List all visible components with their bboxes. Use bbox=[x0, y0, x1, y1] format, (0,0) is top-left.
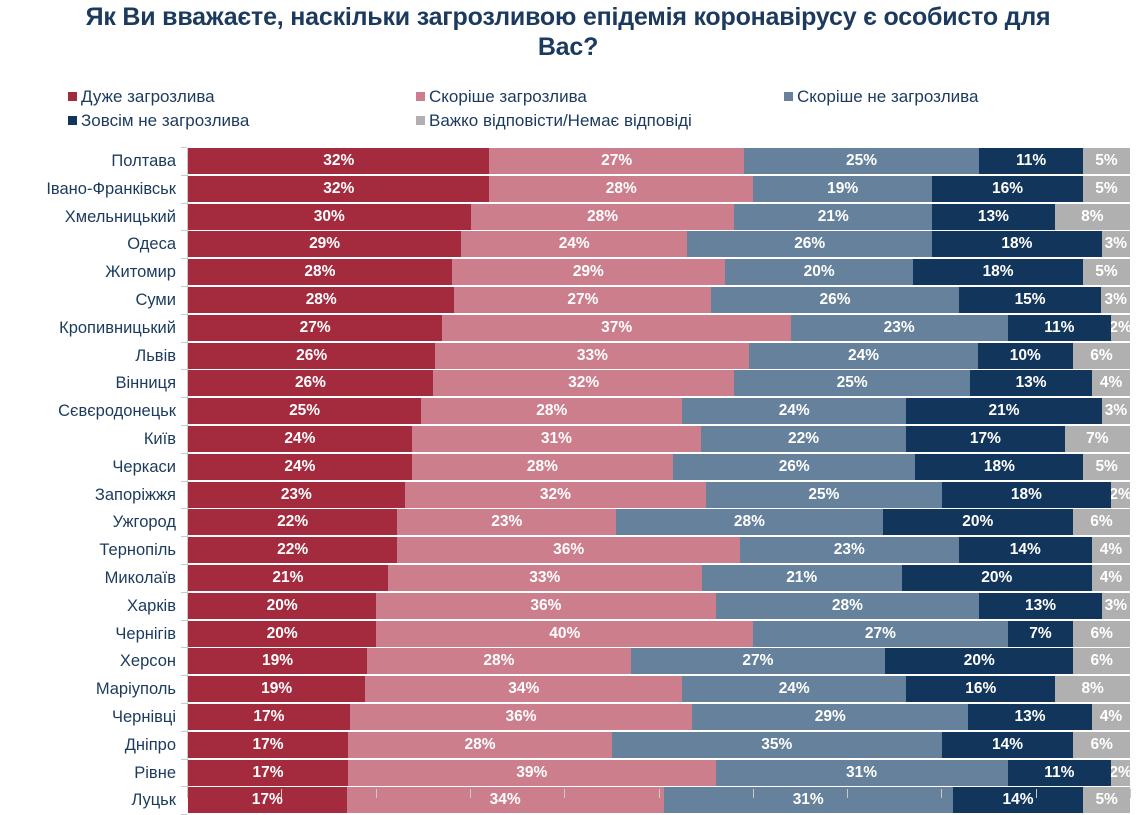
bar-segment[interactable]: 28% bbox=[348, 732, 612, 758]
bar-segment-value: 5% bbox=[1095, 454, 1117, 480]
bar-segment[interactable]: 20% bbox=[902, 565, 1092, 591]
bar-segment[interactable]: 33% bbox=[388, 565, 702, 591]
row-category-label: Полтава bbox=[0, 148, 176, 174]
stacked-bar: 26%33%24%10%6% bbox=[188, 343, 1130, 369]
bar-segment-value: 6% bbox=[1090, 509, 1112, 535]
bar-segment-value: 22% bbox=[788, 426, 819, 452]
bar-segment[interactable]: 5% bbox=[1083, 259, 1130, 285]
stacked-bar: 25%28%24%21%3% bbox=[188, 398, 1130, 424]
bar-segment[interactable]: 6% bbox=[1073, 621, 1130, 647]
bar-segment-value: 25% bbox=[846, 148, 877, 174]
bar-segment-value: 31% bbox=[541, 426, 572, 452]
bar-segment[interactable]: 19% bbox=[188, 648, 367, 674]
bar-segment-value: 30% bbox=[314, 204, 345, 230]
bar-segment-value: 33% bbox=[529, 565, 560, 591]
bar-segment-value: 21% bbox=[786, 565, 817, 591]
y-axis-tick bbox=[181, 342, 187, 343]
bar-segment-value: 28% bbox=[304, 259, 335, 285]
bar-segment-value: 28% bbox=[832, 593, 863, 619]
bar-segment[interactable]: 7% bbox=[1065, 426, 1130, 452]
row-category-label: Черкаси bbox=[0, 454, 176, 480]
bar-segment[interactable]: 39% bbox=[348, 760, 715, 786]
bar-segment[interactable]: 25% bbox=[706, 482, 942, 508]
legend-item-very-threatening[interactable]: Дуже загрозлива bbox=[68, 84, 215, 108]
bar-segment-value: 6% bbox=[1090, 648, 1112, 674]
bar-segment[interactable]: 33% bbox=[435, 343, 749, 369]
bar-segment[interactable]: 11% bbox=[979, 148, 1083, 174]
bar-segment-value: 18% bbox=[1001, 231, 1032, 257]
bar-segment-value: 6% bbox=[1091, 621, 1113, 647]
row-category-label: Житомир bbox=[0, 259, 176, 285]
row-category-label: Миколаїв bbox=[0, 565, 176, 591]
stacked-bar: 19%28%27%20%6% bbox=[188, 648, 1130, 674]
legend-item-not-at-all-threatening[interactable]: Зовсім не загрозлива bbox=[68, 108, 249, 132]
bar-segment[interactable]: 30% bbox=[188, 204, 471, 230]
bar-segment[interactable]: 17% bbox=[906, 426, 1065, 452]
chart-row: Чернігів20%40%27%7%6% bbox=[0, 621, 1136, 647]
bar-segment-value: 24% bbox=[284, 426, 315, 452]
x-axis-tick bbox=[470, 789, 471, 798]
bar-segment-value: 27% bbox=[300, 315, 331, 341]
bar-segment[interactable]: 24% bbox=[188, 426, 412, 452]
legend-swatch-icon bbox=[68, 116, 77, 125]
bar-segment[interactable]: 35% bbox=[612, 732, 942, 758]
legend-swatch-icon bbox=[416, 116, 425, 125]
bar-segment-value: 32% bbox=[323, 148, 354, 174]
y-axis-tick bbox=[181, 147, 187, 148]
bar-segment-value: 34% bbox=[508, 676, 539, 702]
bar-segment[interactable]: 36% bbox=[376, 593, 715, 619]
bar-segment[interactable]: 28% bbox=[188, 287, 454, 313]
bar-segment[interactable]: 23% bbox=[791, 315, 1008, 341]
y-axis-tick bbox=[181, 508, 187, 509]
bar-segment[interactable]: 36% bbox=[350, 704, 693, 730]
bar-segment[interactable]: 5% bbox=[1083, 176, 1130, 202]
stacked-bar: 28%27%26%15%3% bbox=[188, 287, 1130, 313]
bar-segment-value: 11% bbox=[1044, 760, 1074, 786]
bar-segment[interactable]: 4% bbox=[1092, 565, 1130, 591]
y-axis-tick bbox=[181, 536, 187, 537]
legend-item-rather-not-threatening[interactable]: Скоріше не загрозлива bbox=[784, 84, 978, 108]
bar-segment-value: 4% bbox=[1100, 537, 1122, 563]
bar-segment[interactable]: 21% bbox=[734, 204, 932, 230]
legend-label: Важко відповісти/Немає відповіді bbox=[429, 111, 692, 130]
bar-segment[interactable]: 3% bbox=[1102, 593, 1130, 619]
bar-segment[interactable]: 3% bbox=[1102, 231, 1130, 257]
bar-segment[interactable]: 23% bbox=[740, 537, 959, 563]
bar-segment-value: 36% bbox=[530, 593, 561, 619]
bar-segment[interactable]: 2% bbox=[1111, 315, 1130, 341]
bar-segment[interactable]: 34% bbox=[365, 676, 682, 702]
bar-segment[interactable]: 20% bbox=[188, 621, 376, 647]
bar-segment-value: 8% bbox=[1081, 204, 1103, 230]
stacked-bar: 32%28%19%16%5% bbox=[188, 176, 1130, 202]
bar-segment[interactable]: 8% bbox=[1055, 676, 1130, 702]
bar-segment[interactable]: 28% bbox=[421, 398, 682, 424]
bar-segment[interactable]: 11% bbox=[1008, 760, 1112, 786]
bar-segment[interactable]: 24% bbox=[461, 231, 687, 257]
bar-segment[interactable]: 24% bbox=[749, 343, 977, 369]
y-axis-tick bbox=[181, 703, 187, 704]
bar-segment-value: 26% bbox=[794, 231, 825, 257]
y-axis-tick bbox=[181, 175, 187, 176]
bar-segment[interactable]: 28% bbox=[489, 176, 753, 202]
bar-segment[interactable]: 17% bbox=[188, 760, 348, 786]
bar-segment[interactable]: 17% bbox=[188, 732, 348, 758]
bar-segment[interactable]: 6% bbox=[1073, 509, 1130, 535]
bar-segment[interactable]: 19% bbox=[753, 176, 932, 202]
y-axis-tick bbox=[181, 425, 187, 426]
bar-segment-value: 5% bbox=[1095, 787, 1117, 813]
bar-segment[interactable]: 18% bbox=[913, 259, 1083, 285]
chart-row: Маріуполь19%34%24%16%8% bbox=[0, 676, 1136, 702]
bar-segment[interactable]: 20% bbox=[725, 259, 913, 285]
row-category-label: Маріуполь bbox=[0, 676, 176, 702]
chart-legend: Дуже загрозлива Скоріше загрозлива Скорі… bbox=[68, 84, 1088, 132]
bar-segment-value: 20% bbox=[981, 565, 1012, 591]
bar-segment-value: 6% bbox=[1090, 343, 1112, 369]
y-axis-tick bbox=[181, 369, 187, 370]
bar-segment-value: 28% bbox=[587, 204, 618, 230]
bar-segment-value: 18% bbox=[984, 454, 1015, 480]
y-axis-tick bbox=[181, 592, 187, 593]
bar-segment[interactable]: 18% bbox=[932, 231, 1102, 257]
bar-segment[interactable]: 4% bbox=[1092, 370, 1130, 396]
bar-segment-value: 4% bbox=[1100, 704, 1122, 730]
bar-segment[interactable]: 26% bbox=[673, 454, 915, 480]
bar-segment-value: 21% bbox=[818, 204, 849, 230]
bar-segment-value: 14% bbox=[992, 732, 1023, 758]
stacked-bar: 30%28%21%13%8% bbox=[188, 204, 1130, 230]
bar-segment-value: 6% bbox=[1090, 732, 1112, 758]
bar-segment[interactable]: 13% bbox=[968, 704, 1092, 730]
chart-row: Херсон19%28%27%20%6% bbox=[0, 648, 1136, 674]
bar-segment[interactable]: 16% bbox=[906, 676, 1055, 702]
bar-segment-value: 14% bbox=[1010, 537, 1041, 563]
bar-segment-value: 25% bbox=[808, 482, 839, 508]
bar-segment[interactable]: 13% bbox=[970, 370, 1092, 396]
legend-label: Зовсім не загрозлива bbox=[81, 111, 249, 130]
row-category-label: Чернівці bbox=[0, 704, 176, 730]
y-axis-tick bbox=[181, 453, 187, 454]
stacked-bar-chart: Як Ви вважаєте, наскільки загрозливою еп… bbox=[0, 0, 1136, 800]
y-axis-tick bbox=[181, 314, 187, 315]
legend-item-hard-to-answer[interactable]: Важко відповісти/Немає відповіді bbox=[416, 108, 692, 132]
bar-segment[interactable]: 24% bbox=[188, 454, 412, 480]
bar-segment-value: 17% bbox=[253, 732, 284, 758]
bar-segment-value: 34% bbox=[490, 787, 521, 813]
bar-segment-value: 20% bbox=[267, 621, 298, 647]
bar-segment-value: 17% bbox=[252, 787, 283, 813]
bar-segment-value: 2% bbox=[1111, 315, 1130, 341]
bar-segment[interactable]: 32% bbox=[188, 176, 489, 202]
bar-segment-value: 32% bbox=[568, 370, 599, 396]
bar-segment-value: 31% bbox=[793, 787, 824, 813]
bar-segment[interactable]: 23% bbox=[397, 509, 616, 535]
y-axis-tick bbox=[181, 620, 187, 621]
bar-segment-value: 15% bbox=[1015, 287, 1046, 313]
bar-segment-value: 4% bbox=[1100, 370, 1122, 396]
x-axis-tick bbox=[659, 789, 660, 798]
row-category-label: Львів bbox=[0, 343, 176, 369]
bar-segment-value: 16% bbox=[992, 176, 1023, 202]
row-category-label: Івано-Франківськ bbox=[0, 176, 176, 202]
bar-segment[interactable]: 5% bbox=[1083, 148, 1130, 174]
x-axis-tick bbox=[941, 789, 942, 798]
bar-segment[interactable]: 31% bbox=[664, 787, 953, 813]
stacked-bar: 17%28%35%14%6% bbox=[188, 732, 1130, 758]
page-title: Як Ви вважаєте, наскільки загрозливою еп… bbox=[60, 2, 1076, 62]
bar-segment[interactable]: 18% bbox=[942, 482, 1112, 508]
bar-segment-value: 11% bbox=[1016, 148, 1046, 174]
bar-segment-value: 20% bbox=[964, 648, 995, 674]
bar-segment-value: 26% bbox=[295, 370, 326, 396]
bar-segment-value: 23% bbox=[491, 509, 522, 535]
chart-row: Сєвєродонецьк25%28%24%21%3% bbox=[0, 398, 1136, 424]
bar-segment[interactable]: 25% bbox=[734, 370, 970, 396]
y-axis-tick bbox=[181, 647, 187, 648]
chart-row: Тернопіль22%36%23%14%4% bbox=[0, 537, 1136, 563]
x-axis-tick bbox=[376, 789, 377, 798]
bar-segment[interactable]: 14% bbox=[942, 732, 1074, 758]
bar-segment-value: 36% bbox=[553, 537, 584, 563]
row-category-label: Суми bbox=[0, 287, 176, 313]
bar-segment[interactable]: 29% bbox=[452, 259, 725, 285]
bar-segment-value: 26% bbox=[820, 287, 851, 313]
bar-segment-value: 37% bbox=[601, 315, 632, 341]
x-axis-tick bbox=[1130, 789, 1131, 798]
bar-segment[interactable]: 31% bbox=[412, 426, 701, 452]
bar-segment[interactable]: 11% bbox=[1008, 315, 1112, 341]
bar-segment[interactable]: 17% bbox=[188, 704, 350, 730]
bar-segment[interactable]: 19% bbox=[188, 676, 365, 702]
chart-row: Львів26%33%24%10%6% bbox=[0, 343, 1136, 369]
legend-label: Скоріше загрозлива bbox=[429, 87, 587, 106]
bar-segment[interactable]: 21% bbox=[906, 398, 1102, 424]
y-axis-tick bbox=[181, 564, 187, 565]
x-axis-tick bbox=[1036, 789, 1037, 798]
bar-segment-value: 14% bbox=[1003, 787, 1034, 813]
bar-segment[interactable]: 26% bbox=[188, 343, 435, 369]
chart-plot-area: Полтава32%27%25%11%5%Івано-Франківськ32%… bbox=[0, 148, 1136, 788]
bar-segment-value: 39% bbox=[516, 760, 547, 786]
chart-row: Житомир28%29%20%18%5% bbox=[0, 259, 1136, 285]
bar-segment[interactable]: 18% bbox=[915, 454, 1083, 480]
row-category-label: Запоріжжя bbox=[0, 482, 176, 508]
bar-segment-value: 24% bbox=[848, 343, 879, 369]
bar-segment[interactable]: 7% bbox=[1008, 621, 1074, 647]
bar-segment-value: 35% bbox=[761, 732, 792, 758]
stacked-bar: 24%31%22%17%7% bbox=[188, 426, 1130, 452]
bar-segment-value: 3% bbox=[1105, 398, 1127, 424]
bar-segment-value: 10% bbox=[1010, 343, 1041, 369]
chart-row: Київ24%31%22%17%7% bbox=[0, 426, 1136, 452]
row-category-label: Вінниця bbox=[0, 370, 176, 396]
bar-segment[interactable]: 20% bbox=[885, 648, 1073, 674]
y-axis-tick bbox=[181, 759, 187, 760]
bar-segment[interactable]: 21% bbox=[702, 565, 902, 591]
y-axis-tick bbox=[181, 786, 187, 787]
bar-segment[interactable]: 37% bbox=[442, 315, 791, 341]
bar-segment[interactable]: 22% bbox=[188, 509, 397, 535]
bar-segment[interactable]: 32% bbox=[405, 482, 706, 508]
bar-segment[interactable]: 3% bbox=[1101, 287, 1130, 313]
bar-segment[interactable]: 13% bbox=[979, 593, 1101, 619]
bar-segment[interactable]: 28% bbox=[412, 454, 673, 480]
bar-segment-value: 31% bbox=[846, 760, 877, 786]
bar-segment[interactable]: 27% bbox=[188, 315, 442, 341]
bar-segment[interactable]: 14% bbox=[953, 787, 1084, 813]
bar-segment[interactable]: 14% bbox=[959, 537, 1092, 563]
chart-row: Чернівці17%36%29%13%4% bbox=[0, 704, 1136, 730]
bar-segment[interactable]: 29% bbox=[692, 704, 968, 730]
bar-segment-value: 22% bbox=[277, 509, 308, 535]
stacked-bar: 17%36%29%13%4% bbox=[188, 704, 1130, 730]
row-category-label: Чернігів bbox=[0, 621, 176, 647]
bar-segment[interactable]: 26% bbox=[188, 370, 433, 396]
bar-segment[interactable]: 13% bbox=[932, 204, 1054, 230]
legend-swatch-icon bbox=[784, 92, 793, 101]
bar-segment[interactable]: 4% bbox=[1092, 537, 1130, 563]
bar-segment[interactable]: 5% bbox=[1083, 454, 1130, 480]
chart-row: Хмельницький30%28%21%13%8% bbox=[0, 204, 1136, 230]
bar-segment[interactable]: 4% bbox=[1092, 704, 1130, 730]
bar-segment[interactable]: 34% bbox=[347, 787, 664, 813]
bar-segment[interactable]: 20% bbox=[188, 593, 376, 619]
bar-segment-value: 7% bbox=[1086, 426, 1108, 452]
row-category-label: Одеса bbox=[0, 231, 176, 257]
bar-segment-value: 2% bbox=[1111, 482, 1130, 508]
stacked-bar: 28%29%20%18%5% bbox=[188, 259, 1130, 285]
bar-segment[interactable]: 28% bbox=[716, 593, 980, 619]
bar-segment-value: 18% bbox=[983, 259, 1014, 285]
bar-segment-value: 7% bbox=[1029, 621, 1051, 647]
bar-segment[interactable]: 8% bbox=[1055, 204, 1130, 230]
bar-segment[interactable]: 27% bbox=[631, 648, 885, 674]
bar-segment[interactable]: 6% bbox=[1073, 648, 1130, 674]
row-category-label: Тернопіль bbox=[0, 537, 176, 563]
bar-segment[interactable]: 24% bbox=[682, 398, 906, 424]
legend-swatch-icon bbox=[68, 92, 77, 101]
y-axis-tick bbox=[181, 397, 187, 398]
bar-segment-value: 21% bbox=[272, 565, 303, 591]
bar-segment-value: 27% bbox=[865, 621, 896, 647]
bar-segment[interactable]: 27% bbox=[489, 148, 743, 174]
bar-segment-value: 29% bbox=[309, 231, 340, 257]
bar-segment-value: 24% bbox=[559, 231, 590, 257]
bar-segment[interactable]: 2% bbox=[1111, 760, 1130, 786]
row-category-label: Сєвєродонецьк bbox=[0, 398, 176, 424]
y-axis-tick bbox=[181, 675, 187, 676]
bar-segment-value: 18% bbox=[1011, 482, 1042, 508]
x-axis-tick bbox=[847, 789, 848, 798]
bar-segment[interactable]: 5% bbox=[1083, 787, 1130, 813]
bar-segment-value: 20% bbox=[804, 259, 835, 285]
bar-segment[interactable]: 20% bbox=[883, 509, 1073, 535]
chart-row: Черкаси24%28%26%18%5% bbox=[0, 454, 1136, 480]
stacked-bar: 24%28%26%18%5% bbox=[188, 454, 1130, 480]
chart-row: Івано-Франківськ32%28%19%16%5% bbox=[0, 176, 1136, 202]
bar-segment-value: 3% bbox=[1105, 287, 1127, 313]
legend-item-rather-threatening[interactable]: Скоріше загрозлива bbox=[416, 84, 587, 108]
bar-segment-value: 29% bbox=[573, 259, 604, 285]
bar-segment[interactable]: 26% bbox=[687, 231, 932, 257]
bar-segment[interactable]: 22% bbox=[701, 426, 906, 452]
bar-segment-value: 16% bbox=[965, 676, 996, 702]
bar-segment-value: 5% bbox=[1095, 148, 1117, 174]
y-axis-tick bbox=[181, 230, 187, 231]
bar-segment[interactable]: 36% bbox=[397, 537, 740, 563]
bar-segment-value: 13% bbox=[1015, 704, 1046, 730]
bar-segment[interactable]: 28% bbox=[471, 204, 735, 230]
y-axis-tick bbox=[181, 203, 187, 204]
bar-segment[interactable]: 22% bbox=[188, 537, 397, 563]
bar-segment-value: 23% bbox=[834, 537, 865, 563]
chart-row: Дніпро17%28%35%14%6% bbox=[0, 732, 1136, 758]
stacked-bar: 21%33%21%20%4% bbox=[188, 565, 1130, 591]
bar-segment-value: 22% bbox=[277, 537, 308, 563]
stacked-bar: 22%36%23%14%4% bbox=[188, 537, 1130, 563]
bar-segment-value: 20% bbox=[267, 593, 298, 619]
bar-segment-value: 5% bbox=[1095, 259, 1117, 285]
row-category-label: Хмельницький bbox=[0, 204, 176, 230]
bar-segment[interactable]: 32% bbox=[188, 148, 489, 174]
bar-segment[interactable]: 32% bbox=[433, 370, 734, 396]
bar-segment[interactable]: 6% bbox=[1073, 732, 1130, 758]
bar-segment-value: 27% bbox=[742, 648, 773, 674]
bar-segment-value: 28% bbox=[734, 509, 765, 535]
bar-segment-value: 21% bbox=[989, 398, 1020, 424]
bar-segment[interactable]: 21% bbox=[188, 565, 388, 591]
bar-segment[interactable]: 40% bbox=[376, 621, 753, 647]
bar-segment[interactable]: 2% bbox=[1111, 482, 1130, 508]
bar-segment[interactable]: 25% bbox=[744, 148, 980, 174]
bar-segment-value: 28% bbox=[464, 732, 495, 758]
bar-segment[interactable]: 31% bbox=[716, 760, 1008, 786]
bar-segment[interactable]: 16% bbox=[932, 176, 1083, 202]
stacked-bar: 17%39%31%11%2% bbox=[188, 760, 1130, 786]
bar-segment[interactable]: 25% bbox=[188, 398, 421, 424]
y-axis-tick bbox=[181, 481, 187, 482]
bar-segment-value: 25% bbox=[837, 370, 868, 396]
bar-segment-value: 24% bbox=[779, 676, 810, 702]
chart-row: Одеса29%24%26%18%3% bbox=[0, 231, 1136, 257]
bar-segment[interactable]: 28% bbox=[188, 259, 452, 285]
bar-segment-value: 25% bbox=[289, 398, 320, 424]
chart-row: Миколаїв21%33%21%20%4% bbox=[0, 565, 1136, 591]
chart-row: Полтава32%27%25%11%5% bbox=[0, 148, 1136, 174]
stacked-bar: 32%27%25%11%5% bbox=[188, 148, 1130, 174]
bar-segment[interactable]: 17% bbox=[188, 787, 347, 813]
bar-segment[interactable]: 26% bbox=[711, 287, 958, 313]
bar-segment[interactable]: 27% bbox=[454, 287, 711, 313]
bar-segment[interactable]: 6% bbox=[1073, 343, 1130, 369]
bar-segment[interactable]: 29% bbox=[188, 231, 461, 257]
bar-segment[interactable]: 23% bbox=[188, 482, 405, 508]
chart-row: Суми28%27%26%15%3% bbox=[0, 287, 1136, 313]
bar-segment[interactable]: 27% bbox=[753, 621, 1007, 647]
y-axis-tick bbox=[181, 731, 187, 732]
bar-segment[interactable]: 28% bbox=[616, 509, 882, 535]
bar-segment-value: 17% bbox=[253, 760, 284, 786]
bar-segment[interactable]: 28% bbox=[367, 648, 631, 674]
bar-segment[interactable]: 15% bbox=[959, 287, 1102, 313]
bar-segment[interactable]: 10% bbox=[978, 343, 1073, 369]
bar-segment[interactable]: 3% bbox=[1102, 398, 1130, 424]
bar-segment-value: 5% bbox=[1095, 176, 1117, 202]
stacked-bar: 20%40%27%7%6% bbox=[188, 621, 1130, 647]
bar-segment[interactable]: 24% bbox=[682, 676, 906, 702]
